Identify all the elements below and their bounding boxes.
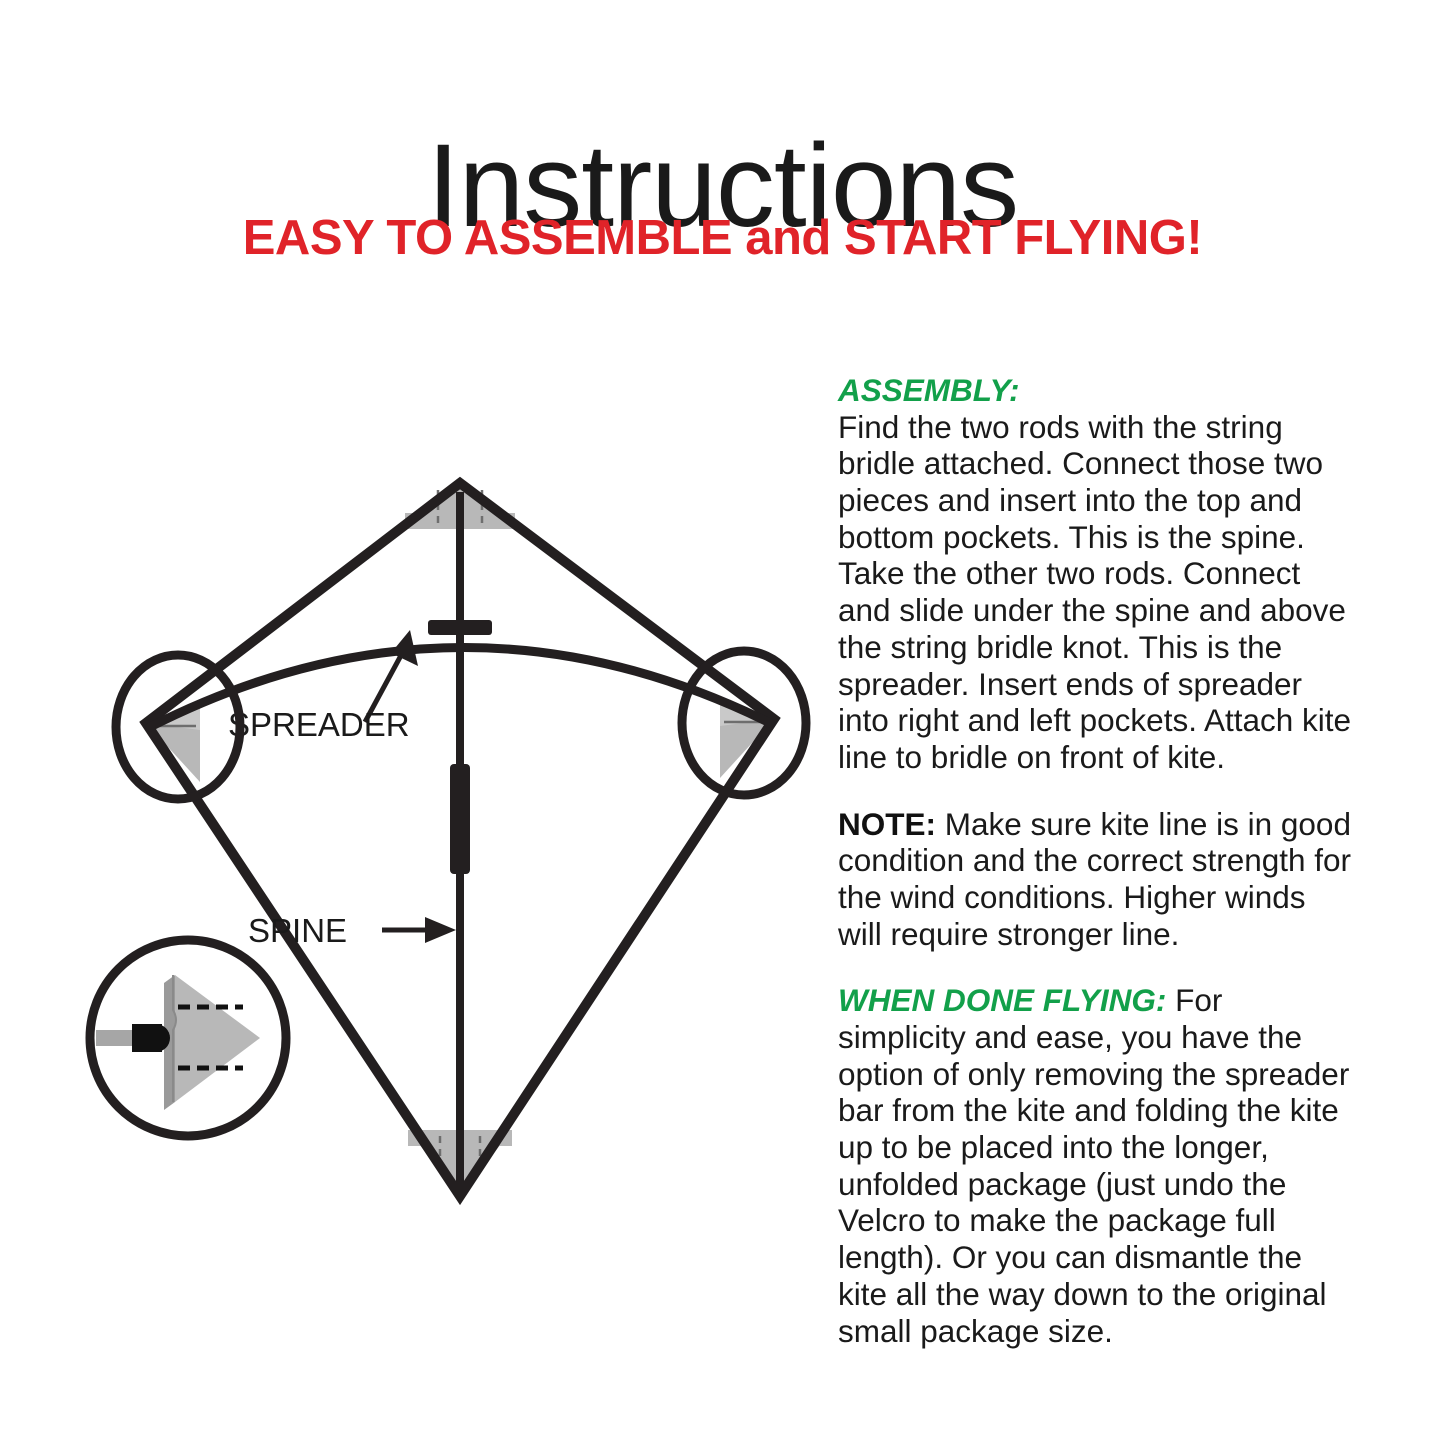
assembly-heading: ASSEMBLY: [838,372,1354,409]
page-subtitle: EASY TO ASSEMBLE and START FLYING! [0,214,1445,263]
spine-callout: SPINE [248,912,456,949]
spine-label: SPINE [248,912,347,949]
when-done-flying-body: For simplicity and ease, you have the op… [838,982,1349,1348]
kite-diagram-svg: SPREADER SPINE [60,430,840,1260]
when-done-flying-heading: WHEN DONE FLYING: [838,982,1166,1018]
kite-assembly-diagram: SPREADER SPINE [60,430,840,1260]
assembly-body: Find the two rods with the string bridle… [838,409,1351,775]
when-done-flying-paragraph: WHEN DONE FLYING: For simplicity and eas… [838,982,1354,1349]
spine-rod [450,492,470,1192]
note-heading: NOTE: [838,806,936,842]
assembly-paragraph: ASSEMBLY:Find the two rods with the stri… [838,372,1354,776]
note-paragraph: NOTE: Make sure kite line is in good con… [838,806,1354,953]
instructions-text-column: ASSEMBLY:Find the two rods with the stri… [838,372,1354,1349]
pocket-insert-detail [90,940,286,1136]
instruction-sheet: Instructions EASY TO ASSEMBLE and START … [0,0,1445,1445]
spreader-label: SPREADER [228,706,410,743]
